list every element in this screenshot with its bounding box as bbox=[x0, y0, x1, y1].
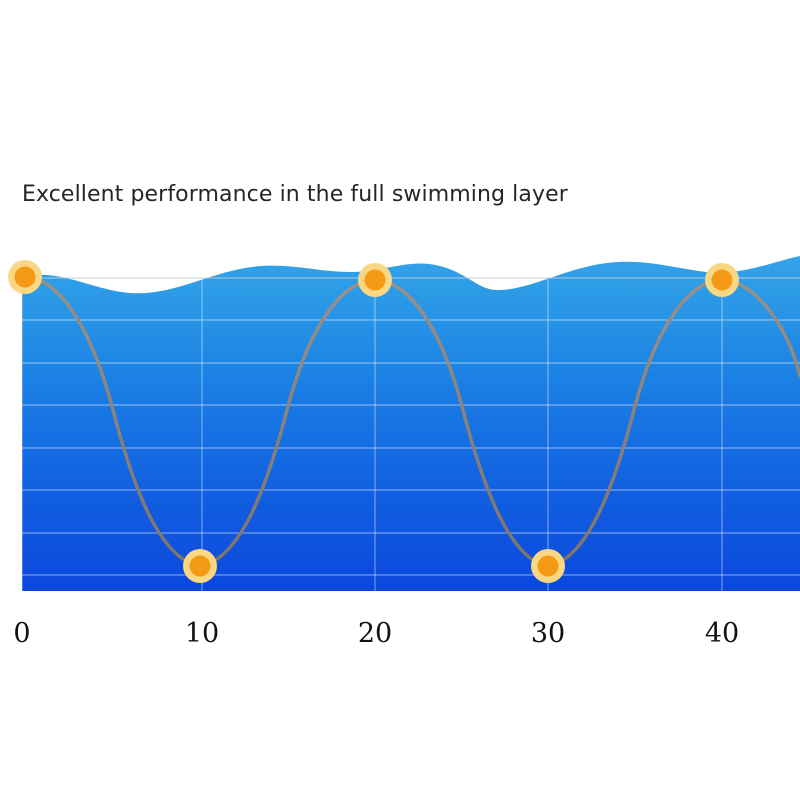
marker-x10[interactable] bbox=[183, 549, 217, 583]
x-tick-30: 30 bbox=[531, 618, 565, 649]
x-axis-tick-labels: 0 10 20 30 40 bbox=[13, 618, 739, 649]
marker-x30[interactable] bbox=[531, 549, 565, 583]
x-tick-20: 20 bbox=[358, 618, 392, 649]
marker-x40[interactable] bbox=[705, 263, 739, 297]
water-fill bbox=[22, 256, 800, 591]
x-tick-0: 0 bbox=[13, 618, 30, 649]
chart-page: Excellent performance in the full swimmi… bbox=[0, 0, 800, 800]
chart-canvas: 0 10 20 30 40 bbox=[0, 0, 800, 800]
marker-x0[interactable] bbox=[8, 260, 42, 294]
x-tick-10: 10 bbox=[185, 618, 219, 649]
water-body bbox=[22, 256, 800, 591]
x-tick-40: 40 bbox=[705, 618, 739, 649]
marker-x20[interactable] bbox=[358, 263, 392, 297]
